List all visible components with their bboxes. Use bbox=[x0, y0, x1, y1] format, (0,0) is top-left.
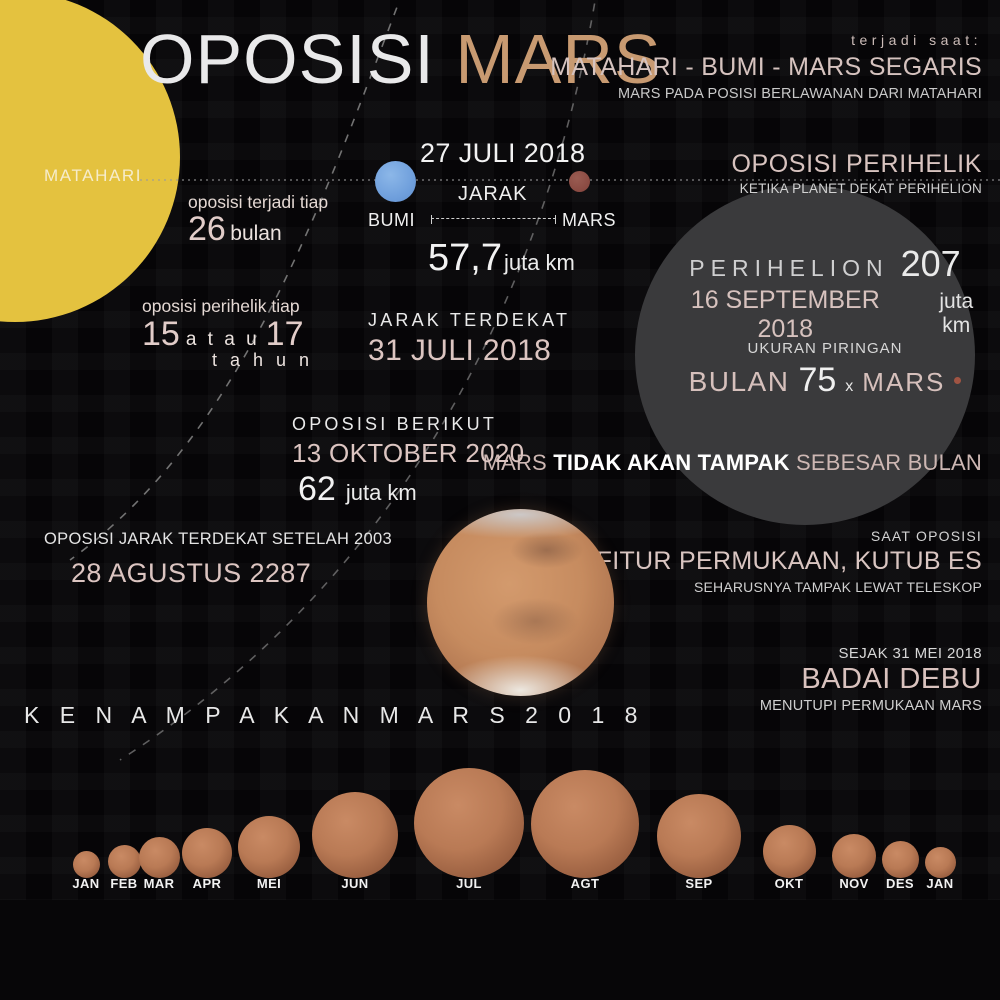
perihelik-title: OPOSISI PERIHELIK bbox=[731, 150, 982, 179]
header-main: MATAHARI - BUMI - MARS SEGARIS bbox=[550, 53, 982, 82]
perihelik-block: OPOSISI PERIHELIK KETIKA PLANET DEKAT PE… bbox=[731, 150, 982, 196]
month-label-feb-1: FEB bbox=[110, 876, 137, 891]
month-label-des-11: DES bbox=[886, 876, 914, 891]
fitur-line2: FITUR PERMUKAAN, KUTUB ES bbox=[597, 547, 982, 576]
tidak-post: SEBESAR BULAN bbox=[790, 450, 982, 475]
jarak-label: JARAK bbox=[458, 183, 527, 206]
terdekat-date: 31 JULI 2018 bbox=[368, 334, 570, 368]
badai-line2: BADAI DEBU bbox=[760, 663, 982, 696]
fitur-line3: SEHARUSNYA TAMPAK LEWAT TELESKOP bbox=[597, 579, 982, 595]
month-label-sep-8: SEP bbox=[685, 876, 712, 891]
month-label-jan-12: JAN bbox=[926, 876, 953, 891]
mars-disk-agt bbox=[531, 770, 639, 878]
oposisi-berikut-block: OPOSISI BERIKUT 13 OKTOBER 2020 62 juta … bbox=[292, 414, 524, 509]
ukuran-factor: 75 bbox=[798, 361, 836, 400]
stat-15-value2: 17 bbox=[266, 315, 304, 354]
setelah-2003-block: OPOSISI JARAK TERDEKAT SETELAH 2003 28 A… bbox=[44, 530, 392, 589]
setelah-label: OPOSISI JARAK TERDEKAT SETELAH 2003 bbox=[44, 530, 392, 549]
mars-disk-mei bbox=[238, 816, 300, 878]
mars-disk-jan bbox=[73, 851, 100, 878]
perihelion-value: 207 bbox=[901, 243, 961, 285]
ukuran-times: x bbox=[845, 378, 853, 396]
mars-disk-okt bbox=[763, 825, 816, 878]
tidak-bold: TIDAK AKAN TAMPAK bbox=[553, 450, 789, 475]
mars-disk-feb bbox=[108, 845, 141, 878]
ukuran-bulan: BULAN bbox=[689, 366, 790, 398]
perihelion-date: 16 SEPTEMBER 2018 bbox=[660, 286, 911, 344]
title-part-oposisi: OPOSISI bbox=[140, 20, 435, 98]
kenampakan-title: K E N A M P A K A N M A R S 2 0 1 8 bbox=[24, 702, 644, 729]
badai-debu-block: SEJAK 31 MEI 2018 BADAI DEBU MENUTUPI PE… bbox=[760, 645, 982, 714]
ukuran-caption: UKURAN PIRINGAN bbox=[660, 340, 990, 357]
mars-disk-sep bbox=[657, 794, 741, 878]
stat-15-caption: oposisi perihelik tiap bbox=[142, 296, 313, 317]
mars-disk-jan bbox=[925, 847, 956, 878]
month-label-mar-2: MAR bbox=[144, 876, 175, 891]
earth-label: BUMI bbox=[368, 210, 415, 231]
month-label-agt-7: AGT bbox=[571, 876, 600, 891]
mars-disk-jul bbox=[414, 768, 524, 878]
distance-value-block: 57,7 juta km bbox=[428, 237, 575, 280]
berikut-unit: juta km bbox=[346, 480, 417, 506]
mars-planet-icon bbox=[569, 171, 590, 192]
month-label-jan-0: JAN bbox=[72, 876, 99, 891]
mars-disk-jun bbox=[312, 792, 398, 878]
mars-photo bbox=[427, 509, 614, 696]
stat-15-17-tahun: oposisi perihelik tiap 15 a t a u 17 t a… bbox=[142, 296, 313, 371]
ukuran-mars: MARS bbox=[862, 367, 945, 398]
distance-measure-bar bbox=[431, 218, 556, 220]
perihelion-label: PERIHELION bbox=[689, 255, 888, 282]
stat-15-value1: 15 bbox=[142, 315, 180, 354]
stat-15-mid: a t a u bbox=[186, 329, 260, 351]
perihelion-unit: juta km bbox=[923, 290, 990, 338]
month-label-apr-3: APR bbox=[193, 876, 222, 891]
mars-disk-mar bbox=[139, 837, 180, 878]
badai-line3: MENUTUPI PERMUKAAN MARS bbox=[760, 698, 982, 714]
distance-unit: juta km bbox=[504, 250, 575, 276]
jarak-terdekat-block: JARAK TERDEKAT 31 JULI 2018 bbox=[368, 310, 570, 368]
header-block: terjadi saat: MATAHARI - BUMI - MARS SEG… bbox=[550, 32, 982, 102]
header-eyebrow: terjadi saat: bbox=[550, 32, 982, 48]
terdekat-label: JARAK TERDEKAT bbox=[368, 310, 570, 331]
mars-label: MARS bbox=[562, 210, 616, 231]
footer-bar: LANGITSELATAN ASTRO 101 langitselatan KO… bbox=[0, 900, 1000, 1000]
berikut-label: OPOSISI BERIKUT bbox=[292, 414, 524, 435]
ukuran-piringan-block: UKURAN PIRINGAN BULAN 75 x MARS bbox=[660, 340, 990, 400]
mars-size-dot-icon bbox=[954, 377, 961, 384]
infographic-poster: MATAHARI OPOSISI MARS terjadi saat: MATA… bbox=[0, 0, 1000, 1000]
stat-26-bulan: oposisi terjadi tiap 26 bulan bbox=[188, 192, 328, 249]
berikut-date: 13 OKTOBER 2020 bbox=[292, 438, 524, 469]
month-label-nov-10: NOV bbox=[839, 876, 868, 891]
month-label-jun-5: JUN bbox=[341, 876, 368, 891]
mars-size-chart bbox=[0, 760, 1000, 880]
mars-disk-apr bbox=[182, 828, 232, 878]
month-label-jul-6: JUL bbox=[456, 876, 482, 891]
distance-value: 57,7 bbox=[428, 237, 502, 280]
stat-26-value: 26 bbox=[188, 210, 226, 248]
opposition-date: 27 JULI 2018 bbox=[420, 138, 585, 169]
perihelik-sub: KETIKA PLANET DEKAT PERIHELION bbox=[731, 181, 982, 196]
berikut-value: 62 bbox=[298, 470, 336, 509]
perihelion-block: PERIHELION 207 16 SEPTEMBER 2018 juta km bbox=[660, 243, 990, 344]
fitur-line1: SAAT OPOSISI bbox=[597, 528, 982, 544]
badai-line1: SEJAK 31 MEI 2018 bbox=[760, 645, 982, 662]
month-labels-row: JANFEBMARAPRMEIJUNJULAGTSEPOKTNOVDESJAN bbox=[0, 876, 1000, 896]
setelah-date: 28 AGUSTUS 2287 bbox=[71, 558, 392, 589]
mars-disk-des bbox=[882, 841, 919, 878]
stat-26-unit: bulan bbox=[230, 222, 281, 245]
month-label-mei-4: MEI bbox=[257, 876, 281, 891]
stat-15-unit: t a h u n bbox=[212, 350, 313, 371]
fitur-permukaan-block: SAAT OPOSISI FITUR PERMUKAAN, KUTUB ES S… bbox=[597, 528, 982, 595]
mars-disk-nov bbox=[832, 834, 876, 878]
month-label-okt-9: OKT bbox=[775, 876, 804, 891]
header-sub: MARS PADA POSISI BERLAWANAN DARI MATAHAR… bbox=[550, 86, 982, 102]
tidak-tampak-line: MARS TIDAK AKAN TAMPAK SEBESAR BULAN bbox=[483, 450, 982, 476]
earth-planet-icon bbox=[375, 161, 416, 202]
